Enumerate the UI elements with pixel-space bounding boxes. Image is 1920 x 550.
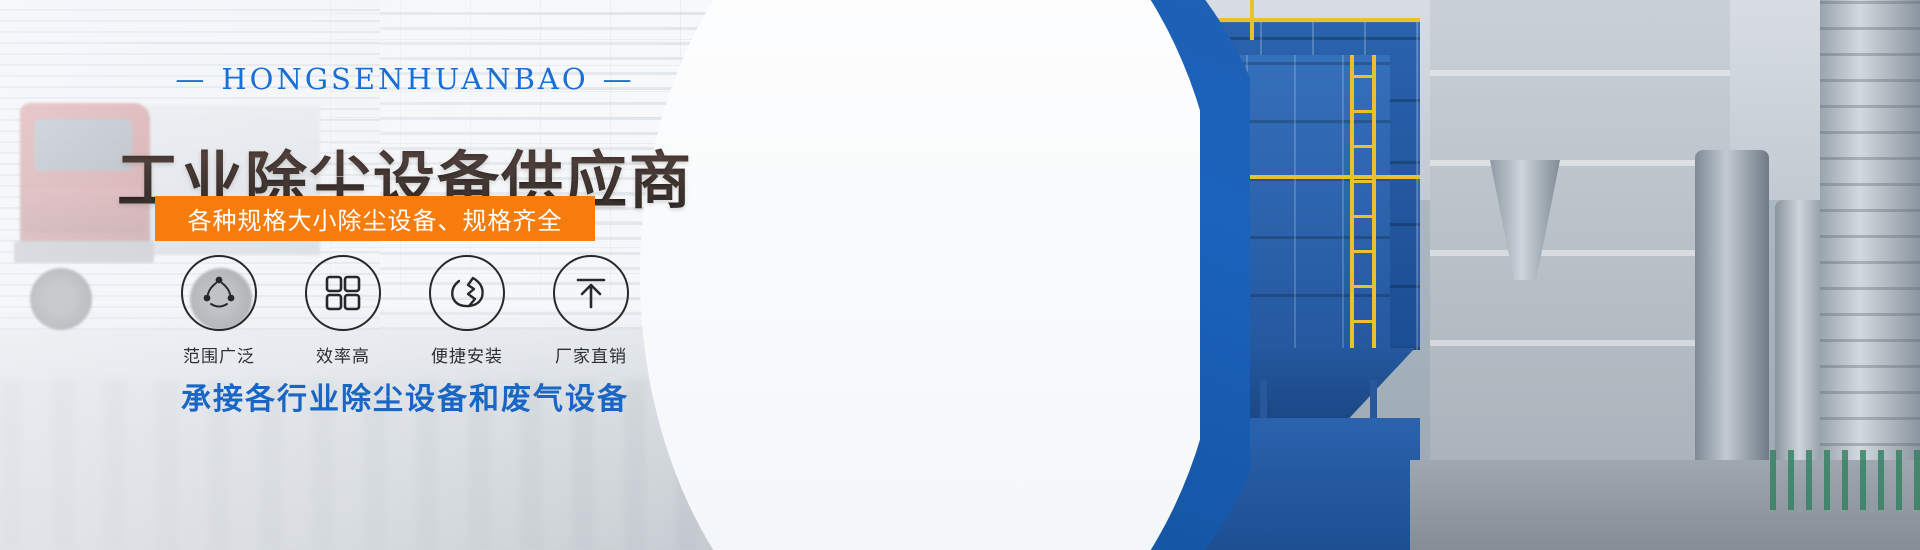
arrow-up-bar-icon — [553, 255, 629, 331]
wrench-icon — [429, 255, 505, 331]
feature-list: 范围广泛 效率高 — [0, 255, 810, 367]
eyebrow-text: HONGSENHUANBAO — [221, 62, 588, 96]
orange-highlight-bar: 各种规格大小除尘设备、规格齐全 — [155, 196, 595, 241]
feature-item-direct-sale[interactable]: 厂家直销 — [552, 255, 630, 367]
feature-label: 厂家直销 — [552, 342, 630, 367]
feature-item-install[interactable]: 便捷安装 — [428, 255, 506, 367]
hero-content: —HONGSENHUANBAO— 工业除尘设备供应商 各种规格大小除尘设备、规格… — [0, 0, 820, 550]
brand-eyebrow: —HONGSENHUANBAO— — [0, 62, 810, 96]
orange-bar-text: 各种规格大小除尘设备、规格齐全 — [188, 201, 563, 236]
feature-label: 范围广泛 — [180, 342, 258, 367]
yellow-rail-post-2 — [1250, 0, 1254, 40]
eyebrow-dash-right: — — [603, 62, 635, 96]
hero-tagline: 承接各行业除尘设备和废气设备 — [0, 374, 810, 418]
feature-label: 效率高 — [304, 342, 382, 367]
yellow-ladder-right — [1350, 55, 1376, 355]
grid-four-squares-icon — [305, 255, 381, 331]
feature-item-range[interactable]: 范围广泛 — [180, 255, 258, 367]
network-nodes-icon — [181, 255, 257, 331]
feature-label: 便捷安装 — [428, 342, 506, 367]
hero-banner: —HONGSENHUANBAO— 工业除尘设备供应商 各种规格大小除尘设备、规格… — [0, 0, 1920, 550]
eyebrow-dash-left: — — [175, 62, 207, 96]
feature-item-efficiency[interactable]: 效率高 — [304, 255, 382, 367]
grey-industrial-structure — [1430, 0, 1730, 470]
green-fence — [1770, 450, 1920, 510]
